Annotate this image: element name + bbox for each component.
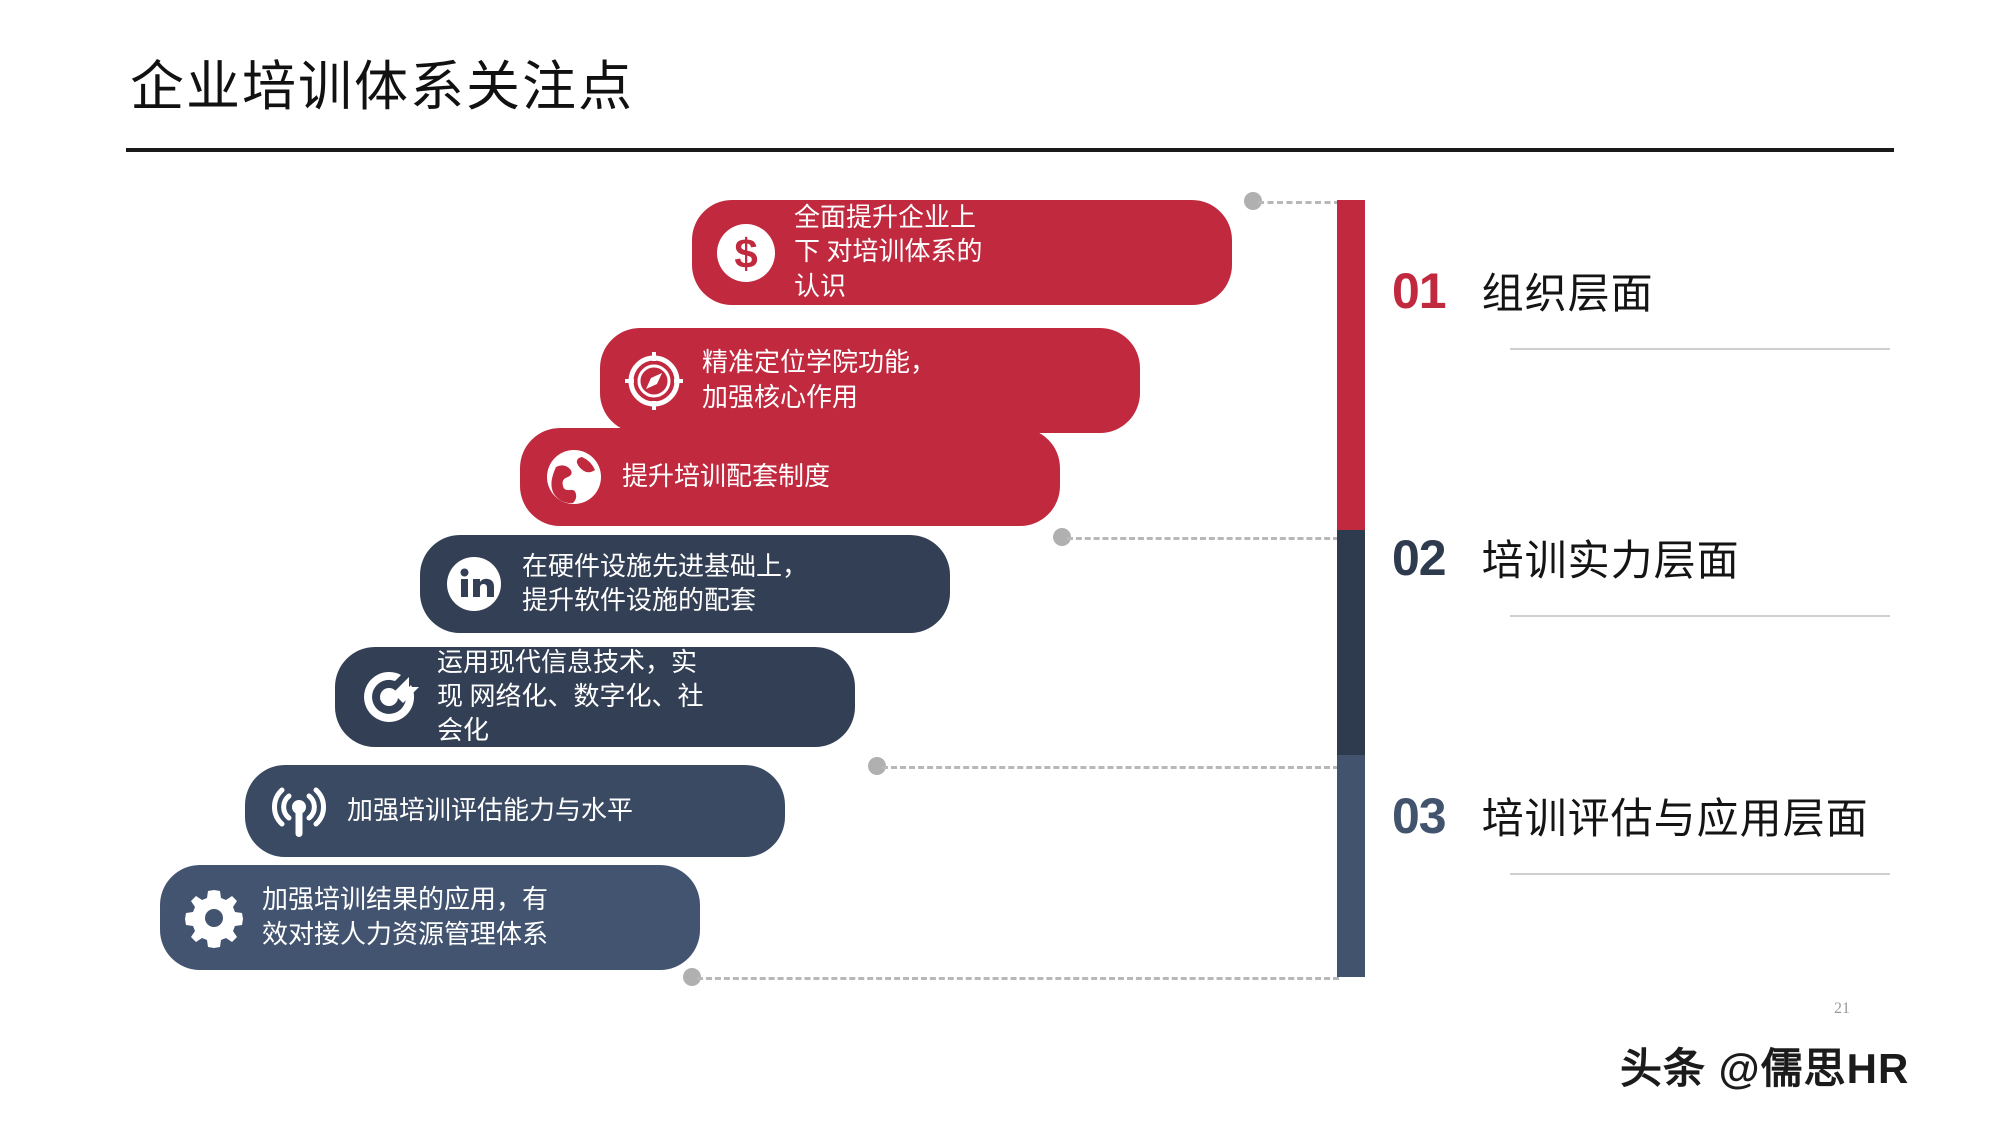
leader-line-4 xyxy=(697,977,1339,980)
banner-7[interactable]: 加强培训结果的应用，有 效对接人力资源管理体系 xyxy=(160,865,700,970)
title-divider xyxy=(126,148,1894,152)
banner-1-label: 全面提升企业上 下 对培训体系的 认识 xyxy=(794,201,1001,304)
leader-line-3 xyxy=(882,766,1339,769)
compass-icon xyxy=(622,349,686,413)
gear-icon xyxy=(182,886,246,950)
banner-2-label: 精准定位学院功能， 加强核心作用 xyxy=(702,346,954,415)
tier-02-divider xyxy=(1510,615,1890,617)
dollar-circle-icon: $ xyxy=(714,221,778,285)
broadcast-icon xyxy=(267,779,331,843)
page-title: 企业培训体系关注点 xyxy=(130,58,1890,117)
tier-01-divider xyxy=(1510,348,1890,350)
tier-rail-02 xyxy=(1337,530,1365,755)
watermark: 头条 @儒思HR xyxy=(1620,1035,1909,1096)
banner-6-label: 加强培训评估能力与水平 xyxy=(347,794,651,828)
tier-rail-01 xyxy=(1337,200,1365,530)
page-title-text: 企业培训体系关注点 xyxy=(130,58,1890,117)
banner-6[interactable]: 加强培训评估能力与水平 xyxy=(245,765,785,857)
tier-03[interactable]: 03 培训评估与应用层面 xyxy=(1392,785,1869,846)
banner-4-label: 在硬件设施先进基础上， 提升软件设施的配套 xyxy=(522,550,826,619)
banner-5-label: 运用现代信息技术，实 现 网络化、数字化、社 会化 xyxy=(437,646,722,749)
banner-5[interactable]: 运用现代信息技术，实 现 网络化、数字化、社 会化 xyxy=(335,647,855,747)
tier-03-number: 03 xyxy=(1392,787,1446,845)
leader-line-1 xyxy=(1258,201,1340,204)
tier-02[interactable]: 02 培训实力层面 xyxy=(1392,527,1740,588)
page-number: 21 xyxy=(1834,1000,1850,1018)
tier-01[interactable]: 01 组织层面 xyxy=(1392,260,1654,321)
tier-rail-03 xyxy=(1337,755,1365,977)
banner-1[interactable]: $ 全面提升企业上 下 对培训体系的 认识 xyxy=(692,200,1232,305)
banner-2[interactable]: 精准定位学院功能， 加强核心作用 xyxy=(600,328,1140,433)
tier-03-divider xyxy=(1510,873,1890,875)
tier-01-label: 组织层面 xyxy=(1482,260,1654,321)
tier-02-number: 02 xyxy=(1392,529,1446,587)
linkedin-icon xyxy=(442,552,506,616)
tier-01-number: 01 xyxy=(1392,262,1446,320)
globe-icon xyxy=(542,445,606,509)
slide-canvas: 企业培训体系关注点 $ 全面提升企业上 下 对培训体系的 认识 精准定位学院功能… xyxy=(0,0,2000,1125)
svg-text:$: $ xyxy=(734,230,757,277)
banner-3-label: 提升培训配套制度 xyxy=(622,460,848,494)
target-arrow-icon xyxy=(357,665,421,729)
tier-03-label: 培训评估与应用层面 xyxy=(1482,785,1869,846)
banner-4[interactable]: 在硬件设施先进基础上， 提升软件设施的配套 xyxy=(420,535,950,633)
tier-02-label: 培训实力层面 xyxy=(1482,527,1740,588)
leader-line-2 xyxy=(1067,537,1339,540)
banner-7-label: 加强培训结果的应用，有 效对接人力资源管理体系 xyxy=(262,883,566,952)
banner-3[interactable]: 提升培训配套制度 xyxy=(520,428,1060,526)
